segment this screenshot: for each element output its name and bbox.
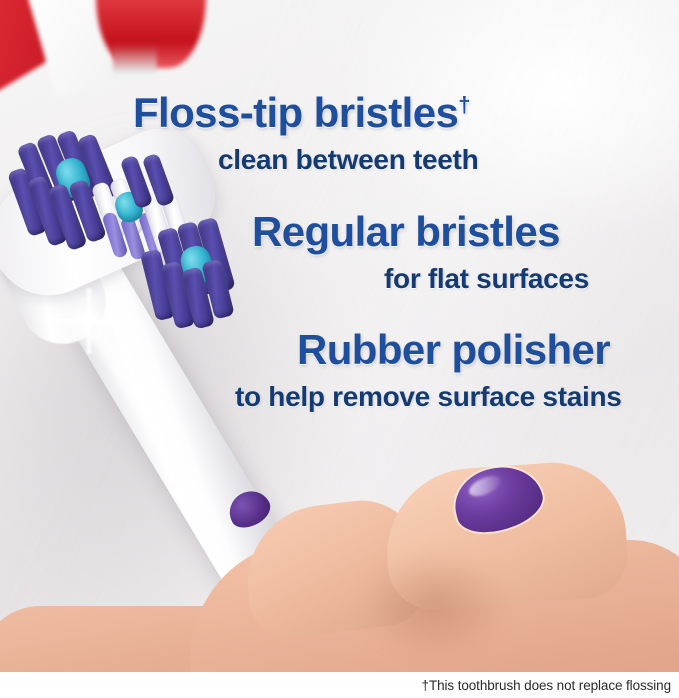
callout-headline-text: Floss-tip bristles [133, 89, 458, 136]
callout-headline-text: Regular bristles [252, 208, 560, 255]
footnote-marker: † [458, 92, 470, 117]
callout-headline-text: Rubber polisher [297, 326, 610, 373]
callout-subline: clean between teeth [218, 146, 478, 174]
callout-group: Floss-tip bristles† clean between teeth … [0, 0, 679, 698]
callout-subline: for flat surfaces [384, 265, 589, 293]
callout-floss-tip: Floss-tip bristles† clean between teeth [133, 92, 478, 174]
footnote-band: †This toothbrush does not replace flossi… [0, 672, 679, 698]
product-feature-image: Floss-tip bristles† clean between teeth … [0, 0, 679, 698]
callout-regular-bristles: Regular bristles for flat surfaces [252, 211, 589, 293]
callout-headline: Floss-tip bristles† [133, 92, 478, 134]
callout-headline: Regular bristles [252, 211, 589, 253]
footnote-text: †This toothbrush does not replace flossi… [422, 678, 679, 693]
callout-rubber-polisher: Rubber polisher to help remove surface s… [297, 329, 622, 411]
callout-headline: Rubber polisher [297, 329, 622, 371]
callout-subline: to help remove surface stains [235, 383, 622, 411]
